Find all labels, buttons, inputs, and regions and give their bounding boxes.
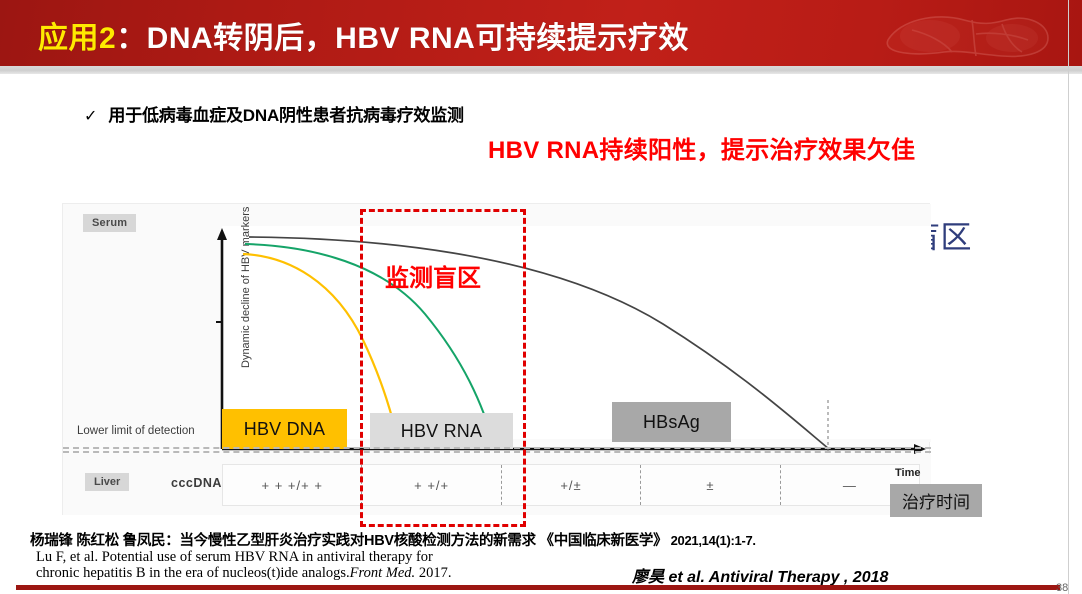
treatment-time-label: 治疗时间 bbox=[890, 484, 982, 517]
marker-box-hbv-rna: HBV RNA bbox=[370, 413, 513, 449]
citation-chinese: 杨瑞锋 陈红松 鲁凤民：当今慢性乙型肝炎治疗实践对HBV核酸检测方法的新需求 《… bbox=[30, 529, 756, 550]
header-divider bbox=[0, 66, 1082, 74]
hbv-marker-decline-chart: Serum Dynamic decline of HBV markers Low… bbox=[62, 203, 930, 515]
cccdna-label: cccDNA bbox=[171, 476, 222, 490]
citation-english-line1: Lu F, et al. Potential use of serum HBV … bbox=[36, 549, 433, 565]
footer-bar bbox=[16, 585, 1060, 590]
page-title: 应用2：DNA转阴后，HBV RNA可持续提示疗效 bbox=[38, 13, 689, 57]
headline-red: HBV RNA持续阳性，提示治疗效果欠佳 bbox=[488, 130, 915, 165]
cccdna-cell: + +/+ bbox=[362, 465, 501, 505]
check-icon: ✓ bbox=[84, 109, 97, 125]
page-number: 38 bbox=[1056, 582, 1068, 594]
liver-tag: Liver bbox=[85, 473, 129, 491]
liver-panel: Liver cccDNA + + +/+ + + +/+ +/± ± — bbox=[63, 454, 931, 515]
x-axis-label: Time bbox=[895, 467, 920, 479]
blind-zone-label: 监测盲区 bbox=[385, 258, 481, 293]
citation-chinese-tail: 2021,14(1):1-7. bbox=[667, 533, 755, 548]
page-title-highlight: 应用2 bbox=[38, 22, 116, 55]
citation-english-line2a: chronic hepatitis B in the era of nucleo… bbox=[36, 565, 350, 581]
cccdna-cell: + + +/+ + bbox=[223, 465, 362, 505]
page-title-rest: ：DNA转阴后，HBV RNA可持续提示疗效 bbox=[116, 22, 689, 55]
bullet-line: ✓ 用于低病毒血症及DNA阴性患者抗病毒疗效监测 bbox=[84, 101, 464, 126]
cccdna-cell: +/± bbox=[502, 465, 641, 505]
slide-header: 应用2：DNA转阴后，HBV RNA可持续提示疗效 bbox=[0, 0, 1082, 66]
citation-side: 廖昊 et al. Antiviral Therapy , 2018 bbox=[632, 563, 888, 587]
marker-box-hbsag: HBsAg bbox=[612, 402, 731, 442]
bullet-text: 用于低病毒血症及DNA阴性患者抗病毒疗效监测 bbox=[108, 101, 463, 126]
slide-right-rule bbox=[1068, 0, 1069, 594]
marker-box-hbv-dna: HBV DNA bbox=[222, 409, 347, 449]
citation-english-journal: Front Med. bbox=[350, 565, 416, 581]
serum-liver-separator bbox=[63, 447, 931, 453]
cccdna-table: + + +/+ + + +/+ +/± ± — bbox=[222, 464, 920, 506]
citation-english-year: 2017. bbox=[415, 565, 451, 581]
citation-chinese-main: 杨瑞锋 陈红松 鲁凤民：当今慢性乙型肝炎治疗实践对HBV核酸检测方法的新需求 《… bbox=[30, 533, 667, 549]
liver-anatomy-icon bbox=[852, 0, 1082, 66]
citation-english: Lu F, et al. Potential use of serum HBV … bbox=[36, 549, 556, 581]
cccdna-cell: ± bbox=[641, 465, 780, 505]
